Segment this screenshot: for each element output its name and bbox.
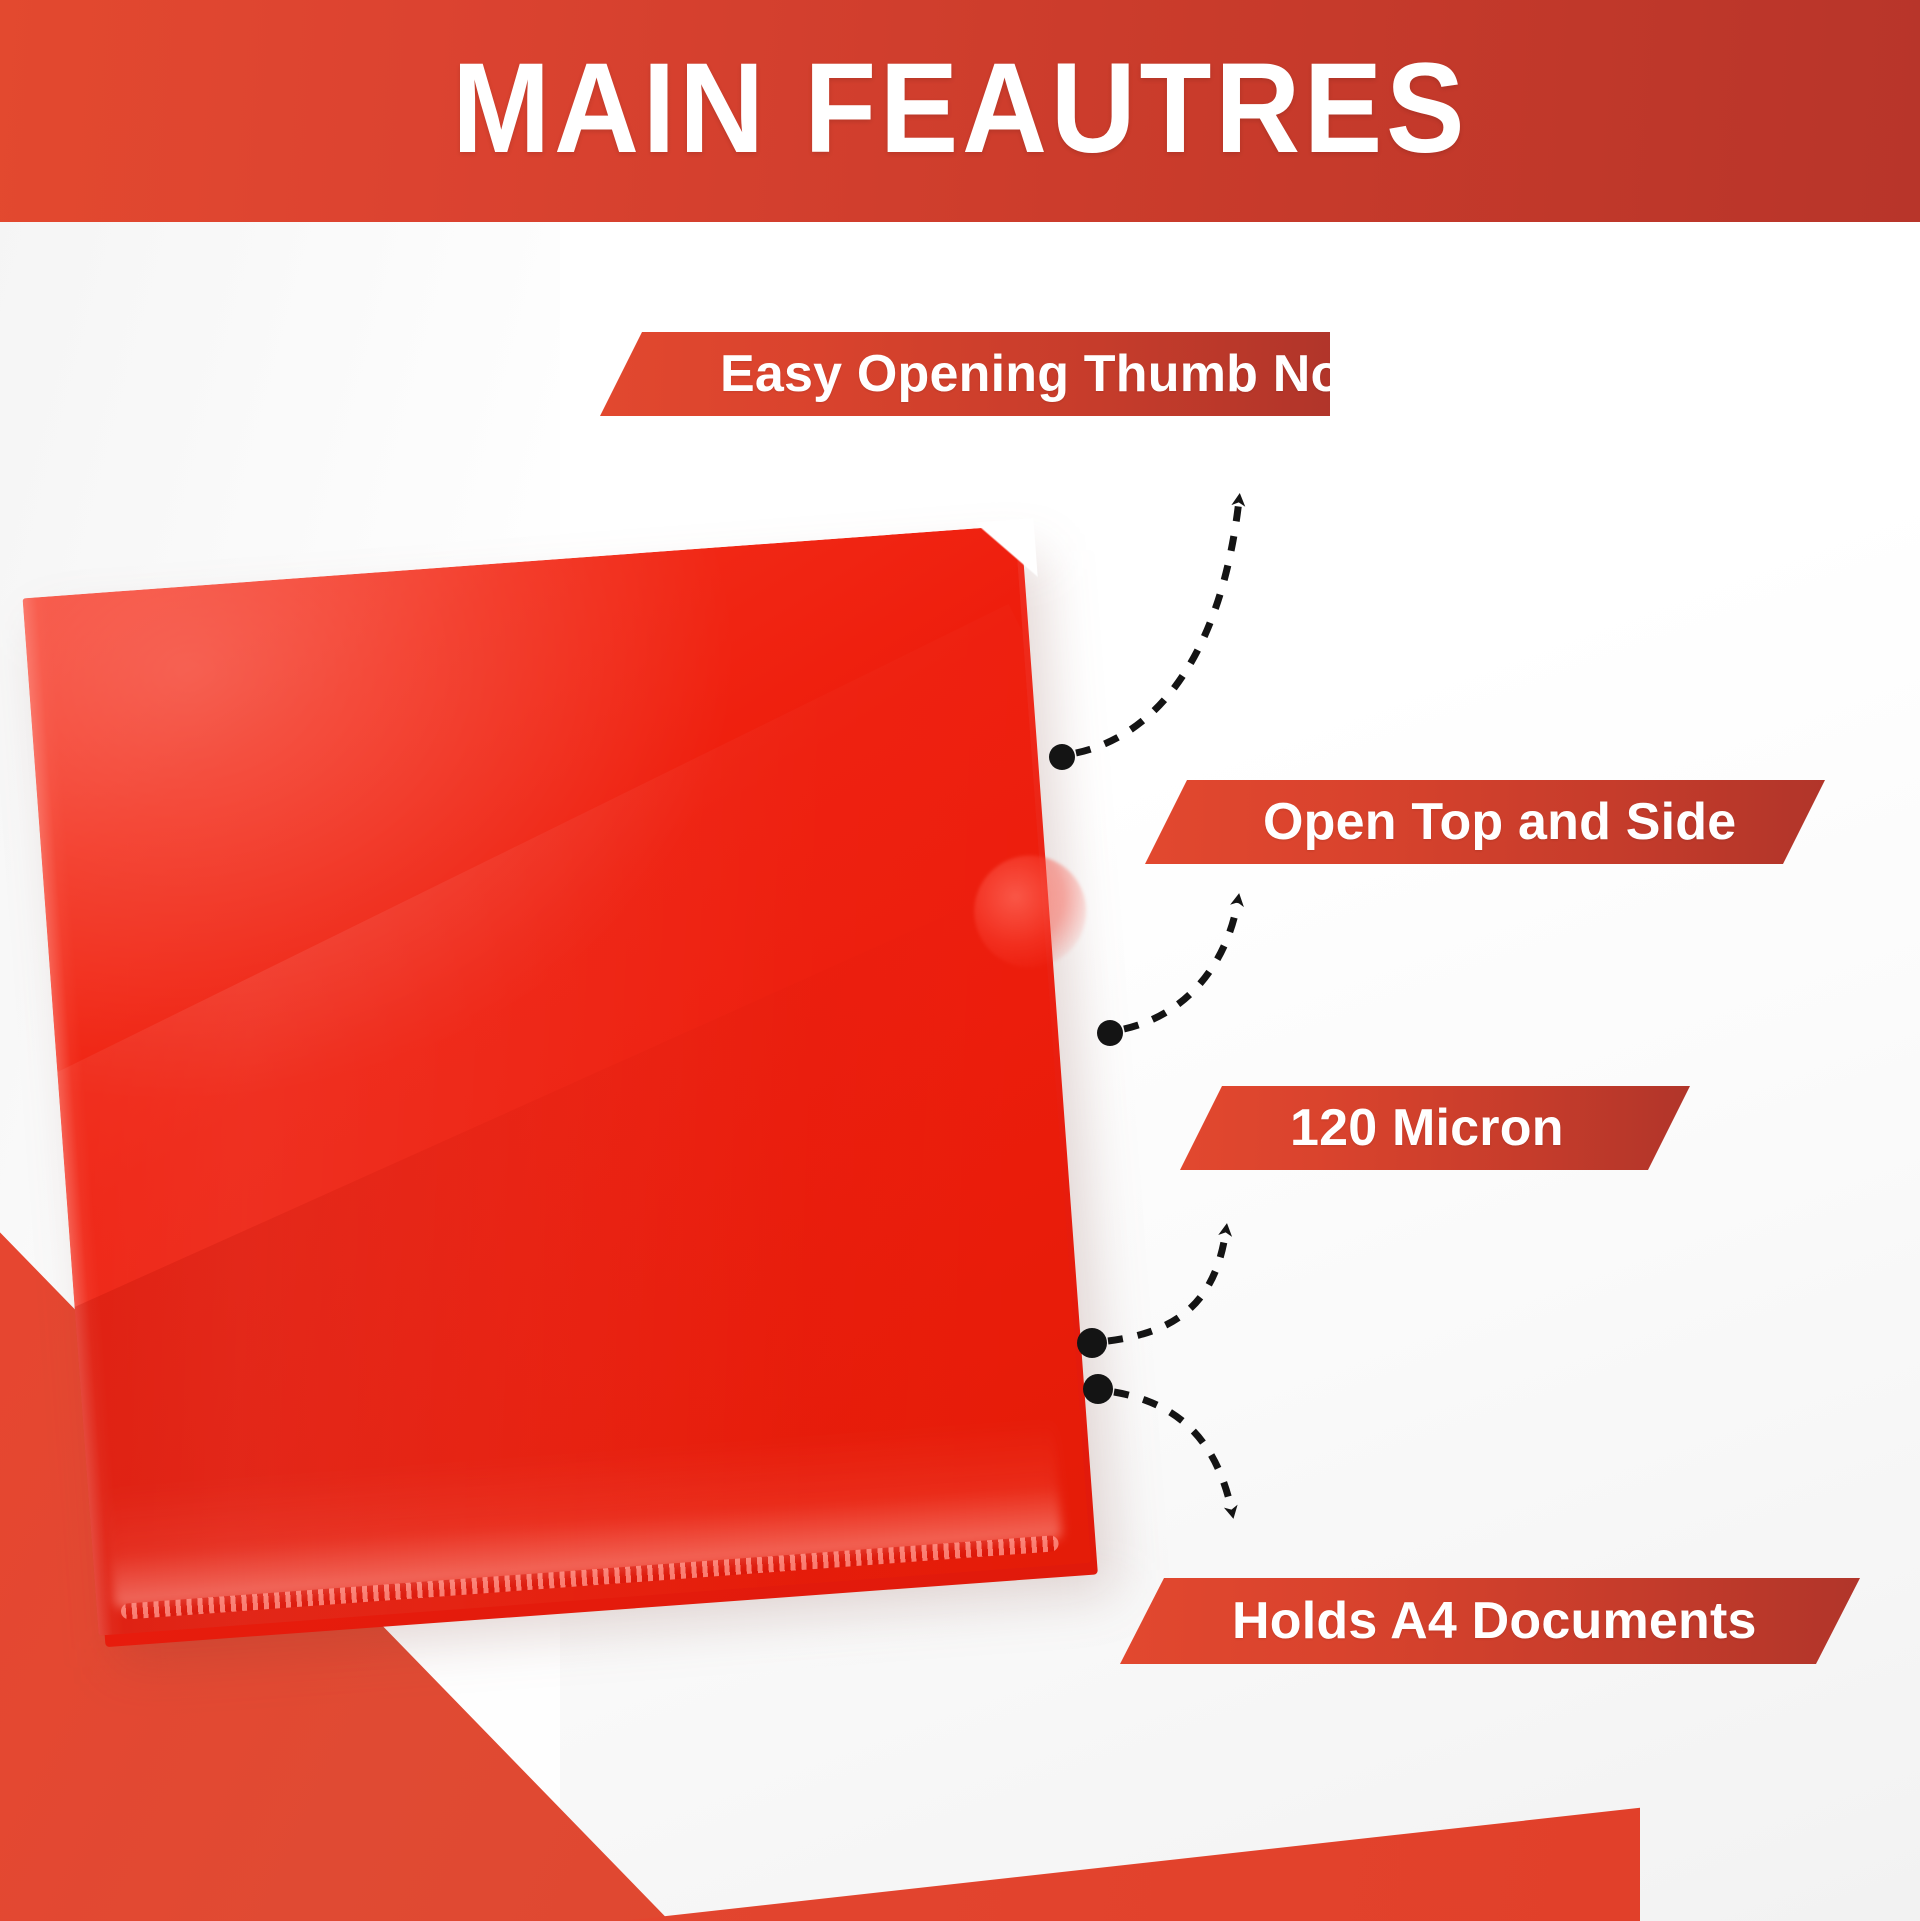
feature-banner-label: 120 Micron (1290, 1102, 1564, 1154)
feature-banner-capacity[interactable]: Holds A4 Documents (1120, 1578, 1860, 1664)
infographic-canvas: MAIN FEAUTRES (0, 0, 1920, 1921)
feature-banner-label: Easy Opening Thumb Notch (720, 348, 1421, 400)
header-band: MAIN FEAUTRES (0, 0, 1920, 222)
feature-banner-thickness[interactable]: 120 Micron (1180, 1086, 1690, 1170)
folder-front-panel (23, 526, 1091, 1636)
folder-cut-corner (974, 518, 1038, 582)
product-folder-image (23, 524, 1108, 1655)
feature-banner-thumb-notch[interactable]: Easy Opening Thumb Notch (600, 332, 1330, 416)
feature-banner-label: Holds A4 Documents (1232, 1595, 1757, 1647)
page-title: MAIN FEAUTRES (452, 45, 1468, 173)
feature-banner-label: Open Top and Side (1263, 796, 1736, 848)
feature-banner-open-top-side[interactable]: Open Top and Side (1145, 780, 1825, 864)
